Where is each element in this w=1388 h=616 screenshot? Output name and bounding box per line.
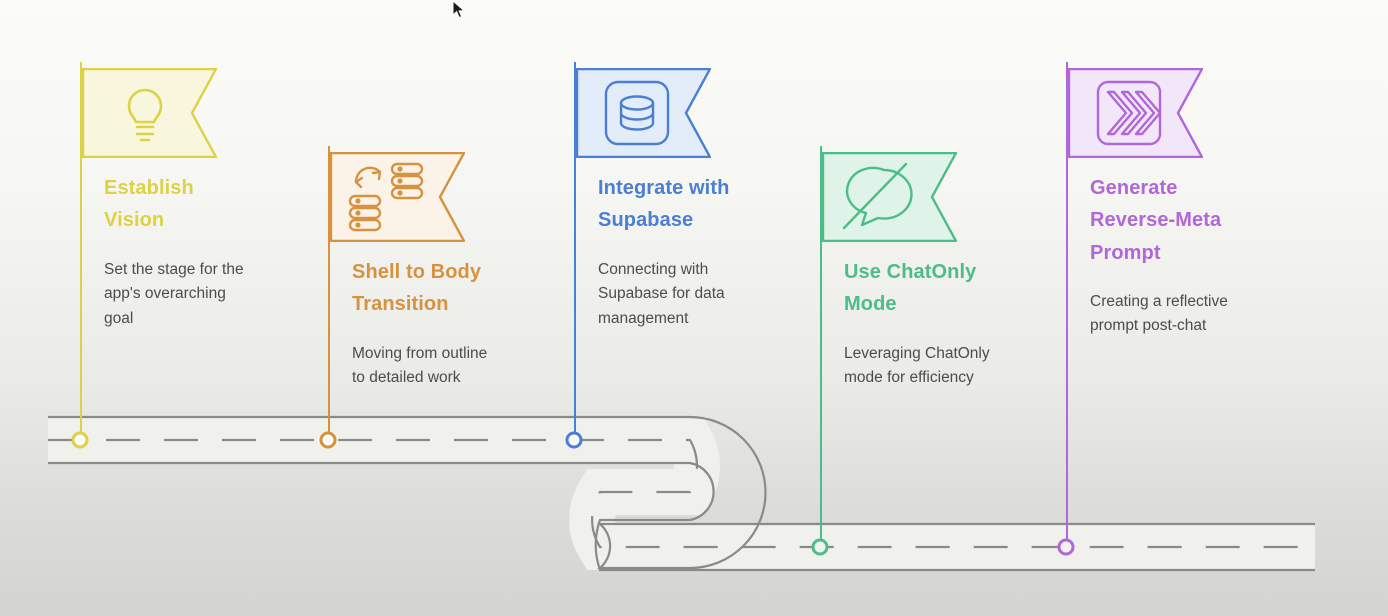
milestone-markers [0,0,1388,616]
marker-integrate-with-supabase [567,433,581,447]
marker-establish-vision [73,433,87,447]
marker-shell-to-body-transition [321,433,335,447]
mouse-pointer-icon [452,0,466,20]
roadmap-diagram: Establish Vision Set the stage for the a… [0,0,1388,616]
marker-use-chatonly-mode [813,540,827,554]
marker-generate-reverse-meta-prompt [1059,540,1073,554]
